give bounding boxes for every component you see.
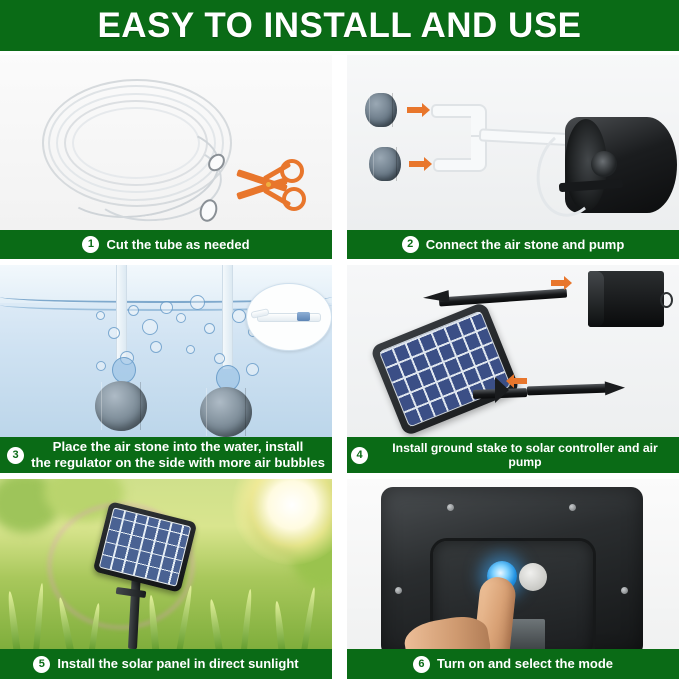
step-caption-line2: the regulator on the side with more air …	[31, 455, 325, 471]
step-1-caption: 1 Cut the tube as needed	[0, 230, 332, 259]
tube	[116, 265, 127, 359]
step-caption-text: Cut the tube as needed	[106, 237, 249, 252]
step-3-image	[0, 265, 332, 437]
ground-stake	[527, 384, 609, 396]
scissors-icon	[232, 153, 304, 217]
step-card-5: 5 Install the solar panel in direct sunl…	[0, 479, 332, 679]
air-stone	[200, 387, 252, 437]
screw	[447, 504, 454, 511]
screw	[395, 587, 402, 594]
step-card-4: 4 Install ground stake to solar controll…	[347, 265, 679, 473]
step-caption-line1: Place the air stone into the water, inst…	[53, 439, 304, 454]
arrow-icon	[513, 378, 527, 384]
solar-panel	[370, 301, 521, 436]
step-caption-text: Install the solar panel in direct sunlig…	[57, 656, 298, 671]
steps-grid: 1 Cut the tube as needed	[0, 55, 679, 679]
instruction-infographic: EASY TO INSTALL AND USE	[0, 0, 679, 679]
step-badge: 2	[402, 236, 419, 253]
regulator-knob	[297, 312, 310, 321]
screw	[621, 587, 628, 594]
step-badge: 5	[33, 656, 50, 673]
step-caption-text: Place the air stone into the water, inst…	[31, 439, 325, 470]
header-banner: EASY TO INSTALL AND USE	[0, 0, 679, 51]
step-badge: 4	[351, 447, 368, 464]
arrow-icon	[409, 161, 425, 167]
step-card-2: 2 Connect the air stone and pump	[347, 55, 679, 259]
step-6-image	[347, 479, 679, 649]
step-5-caption: 5 Install the solar panel in direct sunl…	[0, 649, 332, 679]
step-caption-text: Connect the air stone and pump	[426, 237, 625, 252]
arrow-icon	[407, 107, 423, 113]
arrow-icon	[551, 280, 565, 286]
step-6-caption: 6 Turn on and select the mode	[347, 649, 679, 679]
step-card-6: 6 Turn on and select the mode	[347, 479, 679, 679]
air-stone	[365, 93, 397, 127]
solar-cells	[379, 310, 512, 427]
step-card-3: 3 Place the air stone into the water, in…	[0, 265, 332, 473]
ground-stake	[439, 289, 567, 307]
step-4-image	[347, 265, 679, 437]
air-stone	[369, 147, 401, 181]
screw	[569, 504, 576, 511]
step-badge: 6	[413, 656, 430, 673]
page-title: EASY TO INSTALL AND USE	[97, 8, 581, 43]
step-badge: 1	[82, 236, 99, 253]
air-stone	[95, 381, 147, 431]
step-caption-text: Turn on and select the mode	[437, 656, 613, 671]
step-1-image	[0, 55, 332, 230]
solar-cells	[99, 507, 192, 587]
step-4-caption: 4 Install ground stake to solar controll…	[347, 437, 679, 473]
step-badge: 3	[7, 447, 24, 464]
step-2-caption: 2 Connect the air stone and pump	[347, 230, 679, 259]
step-2-image	[347, 55, 679, 230]
step-3-caption: 3 Place the air stone into the water, in…	[0, 437, 332, 473]
mode-button[interactable]	[519, 563, 547, 591]
step-caption-text: Install ground stake to solar controller…	[375, 441, 675, 470]
regulator-inset	[246, 283, 332, 351]
step-card-1: 1 Cut the tube as needed	[0, 55, 332, 259]
step-5-image	[0, 479, 332, 649]
